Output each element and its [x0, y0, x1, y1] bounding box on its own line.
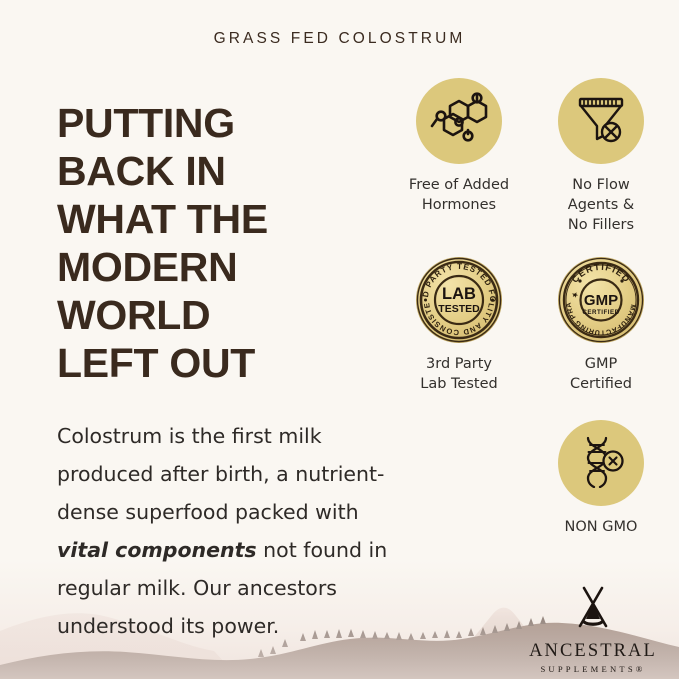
badge-row-spacer — [388, 420, 530, 537]
lab-tested-seal-icon: 3RD PARTY TESTED FOR QUALITY AND CONSIST… — [416, 257, 502, 343]
brand-logo: ANCESTRAL SUPPLEMENTS® — [529, 586, 657, 674]
badge-free-of-added-hormones: Free of Added Hormones — [388, 78, 530, 235]
badge-circle — [416, 78, 502, 164]
badge-label: 3rd Party Lab Tested — [420, 354, 497, 394]
molecule-icon — [430, 92, 488, 150]
badge-row: Free of Added Hormones — [388, 78, 673, 235]
seal-center-line-1: GMP — [584, 292, 618, 309]
badge-label: NON GMO — [565, 517, 638, 537]
badge-label: Free of Added Hormones — [409, 175, 509, 215]
badge-grid: Free of Added Hormones — [388, 78, 673, 537]
badge-gmp-certified: CERTIFIED GOOD MANUFACTURING PRACTICE GM… — [530, 257, 672, 394]
badge-row: NON GMO — [388, 420, 673, 537]
dna-no-icon — [575, 434, 627, 492]
badge-label: GMP Certified — [570, 354, 632, 394]
page-title: PUTTING BACK IN WHAT THE MODERN WORLD LE… — [57, 99, 387, 387]
body-part-1: Colostrum is the first milk produced aft… — [57, 424, 384, 524]
body-paragraph: Colostrum is the first milk produced aft… — [57, 417, 402, 645]
gmp-seal-icon: CERTIFIED GOOD MANUFACTURING PRACTICE GM… — [558, 257, 644, 343]
promo-graphic: GRASS FED COLOSTRUM PUTTING BACK IN WHAT… — [0, 0, 679, 679]
eyebrow-text: GRASS FED COLOSTRUM — [0, 30, 679, 48]
logo-name: ANCESTRAL — [529, 641, 657, 662]
badge-non-gmo: NON GMO — [530, 420, 672, 537]
badge-circle — [558, 420, 644, 506]
badge-row: 3RD PARTY TESTED FOR QUALITY AND CONSIST… — [388, 257, 673, 394]
badge-third-party-lab-tested: 3RD PARTY TESTED FOR QUALITY AND CONSIST… — [388, 257, 530, 394]
badge-circle — [558, 78, 644, 164]
seal-center-line-1: LAB — [442, 285, 476, 303]
badge-no-flow-agents: No Flow Agents & No Fillers — [530, 78, 672, 235]
teepee-icon — [570, 586, 616, 634]
funnel-no-icon — [574, 92, 628, 150]
logo-subtitle: SUPPLEMENTS® — [540, 664, 645, 674]
badge-label: No Flow Agents & No Fillers — [568, 175, 634, 235]
seal-center-line-2: TESTED — [438, 303, 480, 315]
body-emphasis: vital components — [57, 538, 257, 562]
seal-center-line-2: CERTIFIED — [582, 309, 619, 316]
